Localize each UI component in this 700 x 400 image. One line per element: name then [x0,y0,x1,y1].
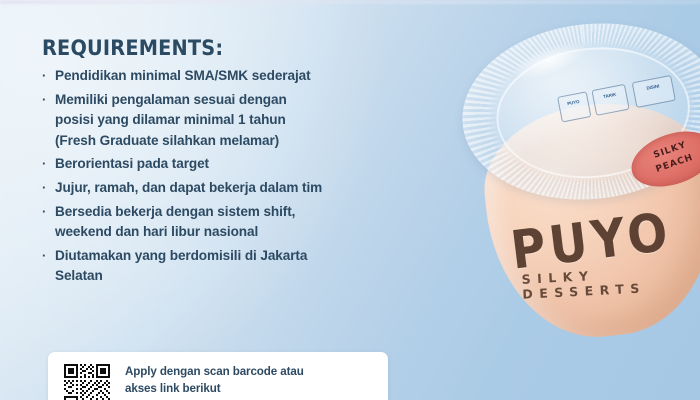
list-item-line: weekend dan hari libur nasional [55,222,414,243]
list-item-line: Diutamakan yang berdomisili di Jakarta [55,246,414,267]
list-item: · Pendidikan minimal SMA/SMK sederajat [42,66,414,87]
apply-text-line: akses link berikut [125,381,375,398]
bullet-icon: · [42,154,46,175]
lid-mark: PUYO [557,91,591,122]
list-item: · Memiliki pengalaman sesuai dengan posi… [42,90,414,152]
bullet-icon: · [42,66,46,87]
bullet-icon: · [42,246,46,267]
list-item: · Bersedia bekerja dengan sistem shift, … [42,202,414,243]
list-item: · Berorientasi pada target [42,154,414,175]
list-item-line: Berorientasi pada target [55,154,414,175]
job-poster: REQUIREMENTS: · Pendidikan minimal SMA/S… [0,0,700,400]
requirements-heading: REQUIREMENTS: [42,36,223,60]
bullet-icon: · [42,202,46,223]
bullet-icon: · [42,178,46,199]
list-item-line: Jujur, ramah, dan dapat bekerja dalam ti… [55,178,414,199]
list-item-line: Memiliki pengalaman sesuai dengan [55,90,414,111]
apply-instruction-text: Apply dengan scan barcode atau akses lin… [125,364,375,397]
puyo-brand-print: PUYO SILKY DESSERTS [490,198,700,335]
apply-qr-card[interactable]: Apply dengan scan barcode atau akses lin… [48,352,388,400]
list-item: · Diutamakan yang berdomisili di Jakarta… [42,246,414,287]
list-item-line: Bersedia bekerja dengan sistem shift, [55,202,414,223]
requirements-list: · Pendidikan minimal SMA/SMK sederajat ·… [42,66,414,290]
product-photo-puyo-cup: PUYO SILKY DESSERTS PUYO TARIK DISINI SI… [452,16,700,346]
qr-code-icon[interactable] [64,364,110,400]
apply-text-line: Apply dengan scan barcode atau [125,364,375,381]
list-item: · Jujur, ramah, dan dapat bekerja dalam … [42,178,414,199]
list-item-line: Pendidikan minimal SMA/SMK sederajat [55,66,414,87]
list-item-line: Selatan [55,266,414,287]
requirements-section: REQUIREMENTS: · Pendidikan minimal SMA/S… [0,0,430,400]
list-item-line: (Fresh Graduate silahkan melamar) [55,131,414,152]
lid-mark: TARIK [591,84,629,116]
list-item-line: posisi yang dilamar minimal 1 tahun [55,110,414,131]
bullet-icon: · [42,90,46,111]
